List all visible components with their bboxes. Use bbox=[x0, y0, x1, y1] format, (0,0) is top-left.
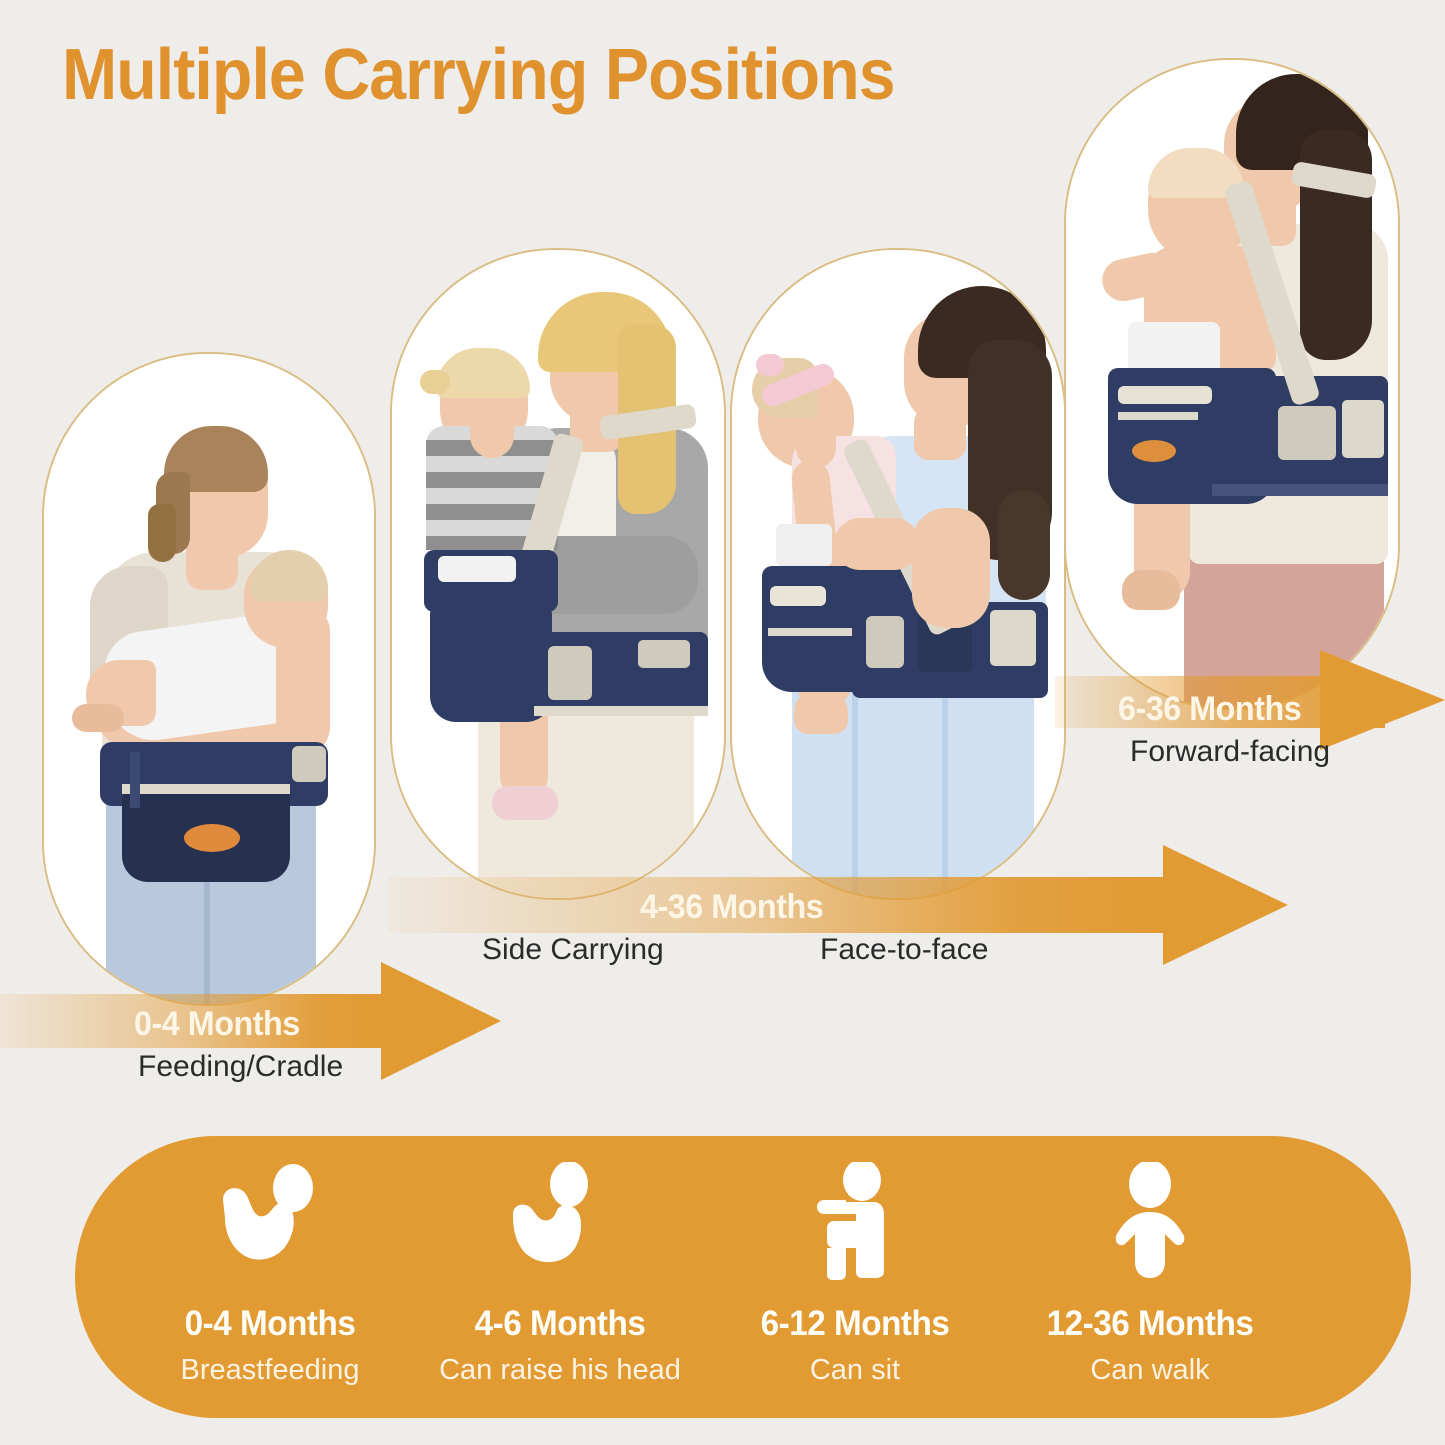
arrow-age-feeding-cradle: 0-4 Months bbox=[134, 1005, 300, 1044]
photo-face-to-face bbox=[730, 248, 1066, 900]
milestone-desc: Can walk bbox=[1015, 1354, 1285, 1387]
milestone-age: 12-36 Months bbox=[1022, 1304, 1279, 1344]
baby-standing-icon bbox=[1095, 1162, 1205, 1282]
milestone-12-36-months: 12-36 Months Can walk bbox=[1015, 1136, 1285, 1418]
milestone-desc: Can sit bbox=[720, 1354, 990, 1387]
milestone-desc: Breastfeeding bbox=[135, 1354, 405, 1387]
milestone-age: 0-4 Months bbox=[142, 1304, 399, 1344]
milestone-age: 6-12 Months bbox=[727, 1304, 984, 1344]
milestones-panel: 0-4 Months Breastfeeding 4-6 Months Can … bbox=[75, 1136, 1411, 1418]
milestone-0-4-months: 0-4 Months Breastfeeding bbox=[135, 1136, 405, 1418]
arrow-head bbox=[1320, 650, 1445, 750]
milestone-desc: Can raise his head bbox=[425, 1354, 695, 1387]
arrow-desc-feeding-cradle: Feeding/Cradle bbox=[138, 1050, 343, 1084]
milestone-4-6-months: 4-6 Months Can raise his head bbox=[425, 1136, 695, 1418]
arrow-head bbox=[381, 962, 501, 1080]
arrow-age-forward-facing: 6-36 Months bbox=[1118, 690, 1301, 729]
arrow-age-side-and-face: 4-36 Months bbox=[640, 888, 823, 927]
milestone-6-12-months: 6-12 Months Can sit bbox=[720, 1136, 990, 1418]
arrow-desc-face-to-face: Face-to-face bbox=[820, 933, 988, 967]
baby-raising-head-icon bbox=[505, 1162, 615, 1282]
milestone-age: 4-6 Months bbox=[432, 1304, 689, 1344]
arrow-desc-forward-facing: Forward-facing bbox=[1130, 735, 1330, 769]
photo-forward-facing bbox=[1064, 58, 1400, 710]
arrow-desc-side-carrying: Side Carrying bbox=[482, 933, 664, 967]
photo-feeding-cradle bbox=[42, 352, 376, 1006]
photo-side-carrying bbox=[390, 248, 726, 900]
page-title: Multiple Carrying Positions bbox=[62, 38, 895, 114]
baby-lying-icon bbox=[215, 1162, 325, 1282]
baby-sitting-icon bbox=[800, 1162, 910, 1282]
arrow-head bbox=[1163, 845, 1288, 965]
